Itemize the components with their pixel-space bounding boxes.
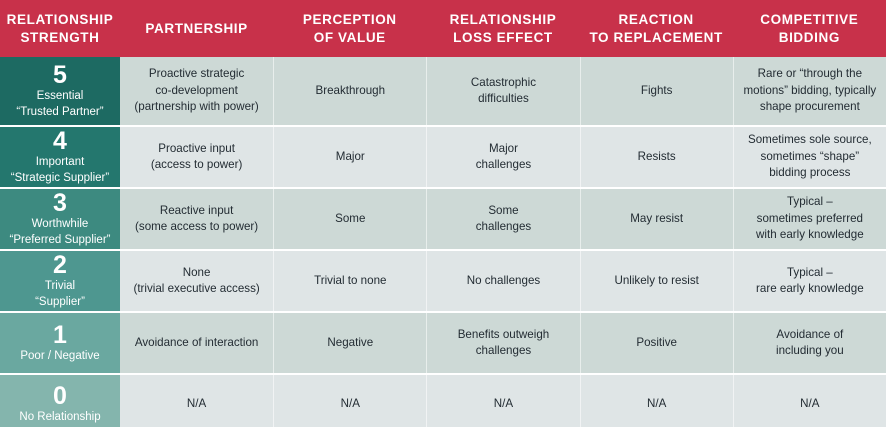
cell-relationship-loss-effect: No challenges bbox=[426, 251, 579, 311]
cell-line1: Fights bbox=[641, 83, 673, 99]
rank-label-primary: Trivial bbox=[45, 279, 75, 295]
relationship-strength-matrix: RELATIONSHIP STRENGTH PARTNERSHIP PERCEP… bbox=[0, 0, 886, 427]
column-header-line1: RELATIONSHIP bbox=[7, 11, 114, 28]
cell-partnership: Proactive input (access to power) bbox=[120, 127, 273, 187]
rank-label-primary: Worthwhile bbox=[32, 217, 89, 233]
cell-line1: Positive bbox=[636, 335, 677, 351]
cell-partnership: N/A bbox=[120, 375, 273, 427]
table-row: 4 Important “Strategic Supplier” Proacti… bbox=[0, 127, 886, 187]
cell-line1: Reactive input bbox=[135, 203, 258, 219]
table-row: 1 Poor / Negative Avoidance of interacti… bbox=[0, 313, 886, 373]
cell-partnership: Reactive input (some access to power) bbox=[120, 189, 273, 249]
cell-line1: N/A bbox=[800, 396, 819, 412]
cell-reaction-to-replacement: N/A bbox=[580, 375, 733, 427]
table-row: 5 Essential “Trusted Partner” Proactive … bbox=[0, 57, 886, 125]
cell-line3: with early knowledge bbox=[756, 227, 864, 243]
cell-reaction-to-replacement: Fights bbox=[580, 57, 733, 125]
rank-label-secondary: “Preferred Supplier” bbox=[10, 233, 111, 249]
rank-label-primary: No Relationship bbox=[19, 410, 100, 426]
cell-line1: Benefits outweigh bbox=[458, 327, 550, 343]
cell-line2: challenges bbox=[476, 219, 531, 235]
rank-number: 4 bbox=[53, 128, 67, 154]
cell-line1: N/A bbox=[341, 396, 360, 412]
cell-perception-of-value: Breakthrough bbox=[273, 57, 426, 125]
cell-perception-of-value: Major bbox=[273, 127, 426, 187]
rank-number: 3 bbox=[53, 190, 67, 216]
column-header-line2: STRENGTH bbox=[7, 29, 114, 46]
cell-line1: Catastrophic bbox=[471, 75, 536, 91]
cell-line2: rare early knowledge bbox=[756, 281, 864, 297]
cell-competitive-bidding: Avoidance of including you bbox=[733, 313, 886, 373]
table-body: 5 Essential “Trusted Partner” Proactive … bbox=[0, 57, 886, 427]
cell-reaction-to-replacement: May resist bbox=[580, 189, 733, 249]
cell-perception-of-value: Negative bbox=[273, 313, 426, 373]
rank-cell-1: 1 Poor / Negative bbox=[0, 313, 120, 373]
cell-line1: Major bbox=[476, 141, 531, 157]
rank-cell-0: 0 No Relationship bbox=[0, 375, 120, 427]
cell-line2: motions” bidding, typically bbox=[743, 83, 876, 99]
rank-label-secondary: “Strategic Supplier” bbox=[11, 171, 109, 187]
column-header-partnership: PARTNERSHIP bbox=[120, 0, 273, 57]
cell-line1: Sometimes sole source, bbox=[748, 132, 872, 148]
cell-line1: N/A bbox=[187, 396, 206, 412]
cell-line1: N/A bbox=[647, 396, 666, 412]
table-row: 3 Worthwhile “Preferred Supplier” Reacti… bbox=[0, 189, 886, 249]
cell-line2: difficulties bbox=[471, 91, 536, 107]
rank-number: 2 bbox=[53, 252, 67, 278]
cell-partnership: Avoidance of interaction bbox=[120, 313, 273, 373]
cell-line2: (trivial executive access) bbox=[133, 281, 259, 297]
column-header-perception-of-value: PERCEPTION OF VALUE bbox=[273, 0, 426, 57]
rank-cell-3: 3 Worthwhile “Preferred Supplier” bbox=[0, 189, 120, 249]
cell-line1: Typical – bbox=[756, 265, 864, 281]
cell-relationship-loss-effect: Benefits outweigh challenges bbox=[426, 313, 579, 373]
column-header-line2: OF VALUE bbox=[303, 29, 397, 46]
rank-number: 1 bbox=[53, 322, 67, 348]
cell-competitive-bidding: N/A bbox=[733, 375, 886, 427]
rank-number: 5 bbox=[53, 62, 67, 88]
cell-line1: N/A bbox=[494, 396, 513, 412]
cell-relationship-loss-effect: N/A bbox=[426, 375, 579, 427]
column-header-line1: PARTNERSHIP bbox=[145, 20, 247, 37]
cell-partnership: Proactive strategic co-development (part… bbox=[120, 57, 273, 125]
cell-line2: (some access to power) bbox=[135, 219, 258, 235]
cell-competitive-bidding: Typical – sometimes preferred with early… bbox=[733, 189, 886, 249]
cell-line1: Rare or “through the bbox=[743, 66, 876, 82]
column-header-reaction-to-replacement: REACTION TO REPLACEMENT bbox=[580, 0, 733, 57]
cell-line1: Avoidance of bbox=[776, 327, 844, 343]
cell-line2: challenges bbox=[458, 343, 550, 359]
rank-label-secondary: “Trusted Partner” bbox=[16, 105, 103, 121]
cell-line2: (access to power) bbox=[151, 157, 243, 173]
cell-partnership: None (trivial executive access) bbox=[120, 251, 273, 311]
column-header-line1: RELATIONSHIP bbox=[450, 11, 557, 28]
cell-line1: No challenges bbox=[467, 273, 540, 289]
cell-line2: sometimes preferred bbox=[756, 211, 864, 227]
cell-reaction-to-replacement: Positive bbox=[580, 313, 733, 373]
table-row: 0 No Relationship N/A N/A N/A N/A N/A bbox=[0, 375, 886, 427]
cell-line1: Some bbox=[335, 211, 365, 227]
cell-line2: co-development bbox=[134, 83, 258, 99]
cell-reaction-to-replacement: Unlikely to resist bbox=[580, 251, 733, 311]
cell-line1: Trivial to none bbox=[314, 273, 386, 289]
cell-relationship-loss-effect: Catastrophic difficulties bbox=[426, 57, 579, 125]
cell-line1: Typical – bbox=[756, 194, 864, 210]
rank-label-secondary: “Supplier” bbox=[35, 295, 85, 311]
cell-line1: Some bbox=[476, 203, 531, 219]
column-header-line2: BIDDING bbox=[760, 29, 858, 46]
column-header-line1: REACTION bbox=[589, 11, 722, 28]
cell-line1: Unlikely to resist bbox=[614, 273, 698, 289]
cell-line1: May resist bbox=[630, 211, 683, 227]
cell-line3: bidding process bbox=[748, 165, 872, 181]
cell-line1: Proactive strategic bbox=[134, 66, 258, 82]
cell-perception-of-value: Trivial to none bbox=[273, 251, 426, 311]
cell-perception-of-value: Some bbox=[273, 189, 426, 249]
cell-line1: Avoidance of interaction bbox=[135, 335, 259, 351]
column-header-relationship-loss-effect: RELATIONSHIP LOSS EFFECT bbox=[426, 0, 579, 57]
rank-cell-5: 5 Essential “Trusted Partner” bbox=[0, 57, 120, 125]
column-header-competitive-bidding: COMPETITIVE BIDDING bbox=[733, 0, 886, 57]
cell-competitive-bidding: Sometimes sole source, sometimes “shape”… bbox=[733, 127, 886, 187]
rank-label-primary: Important bbox=[36, 155, 85, 171]
cell-line1: Proactive input bbox=[151, 141, 243, 157]
column-header-line2: LOSS EFFECT bbox=[450, 29, 557, 46]
cell-perception-of-value: N/A bbox=[273, 375, 426, 427]
cell-competitive-bidding: Rare or “through the motions” bidding, t… bbox=[733, 57, 886, 125]
table-header-row: RELATIONSHIP STRENGTH PARTNERSHIP PERCEP… bbox=[0, 0, 886, 57]
rank-number: 0 bbox=[53, 383, 67, 409]
cell-line2: sometimes “shape” bbox=[748, 149, 872, 165]
cell-competitive-bidding: Typical – rare early knowledge bbox=[733, 251, 886, 311]
cell-relationship-loss-effect: Some challenges bbox=[426, 189, 579, 249]
column-header-line2: TO REPLACEMENT bbox=[589, 29, 722, 46]
cell-line1: Negative bbox=[327, 335, 373, 351]
rank-cell-2: 2 Trivial “Supplier” bbox=[0, 251, 120, 311]
cell-relationship-loss-effect: Major challenges bbox=[426, 127, 579, 187]
column-header-line1: COMPETITIVE bbox=[760, 11, 858, 28]
column-header-relationship-strength: RELATIONSHIP STRENGTH bbox=[0, 0, 120, 57]
cell-line1: None bbox=[133, 265, 259, 281]
cell-line3: shape procurement bbox=[743, 99, 876, 115]
cell-line1: Major bbox=[336, 149, 365, 165]
cell-line2: including you bbox=[776, 343, 844, 359]
rank-label-primary: Essential bbox=[37, 89, 84, 105]
rank-label-primary: Poor / Negative bbox=[20, 349, 99, 365]
cell-reaction-to-replacement: Resists bbox=[580, 127, 733, 187]
cell-line3: (partnership with power) bbox=[134, 99, 258, 115]
table-row: 2 Trivial “Supplier” None (trivial execu… bbox=[0, 251, 886, 311]
cell-line1: Breakthrough bbox=[315, 83, 385, 99]
column-header-line1: PERCEPTION bbox=[303, 11, 397, 28]
cell-line2: challenges bbox=[476, 157, 531, 173]
rank-cell-4: 4 Important “Strategic Supplier” bbox=[0, 127, 120, 187]
cell-line1: Resists bbox=[638, 149, 676, 165]
